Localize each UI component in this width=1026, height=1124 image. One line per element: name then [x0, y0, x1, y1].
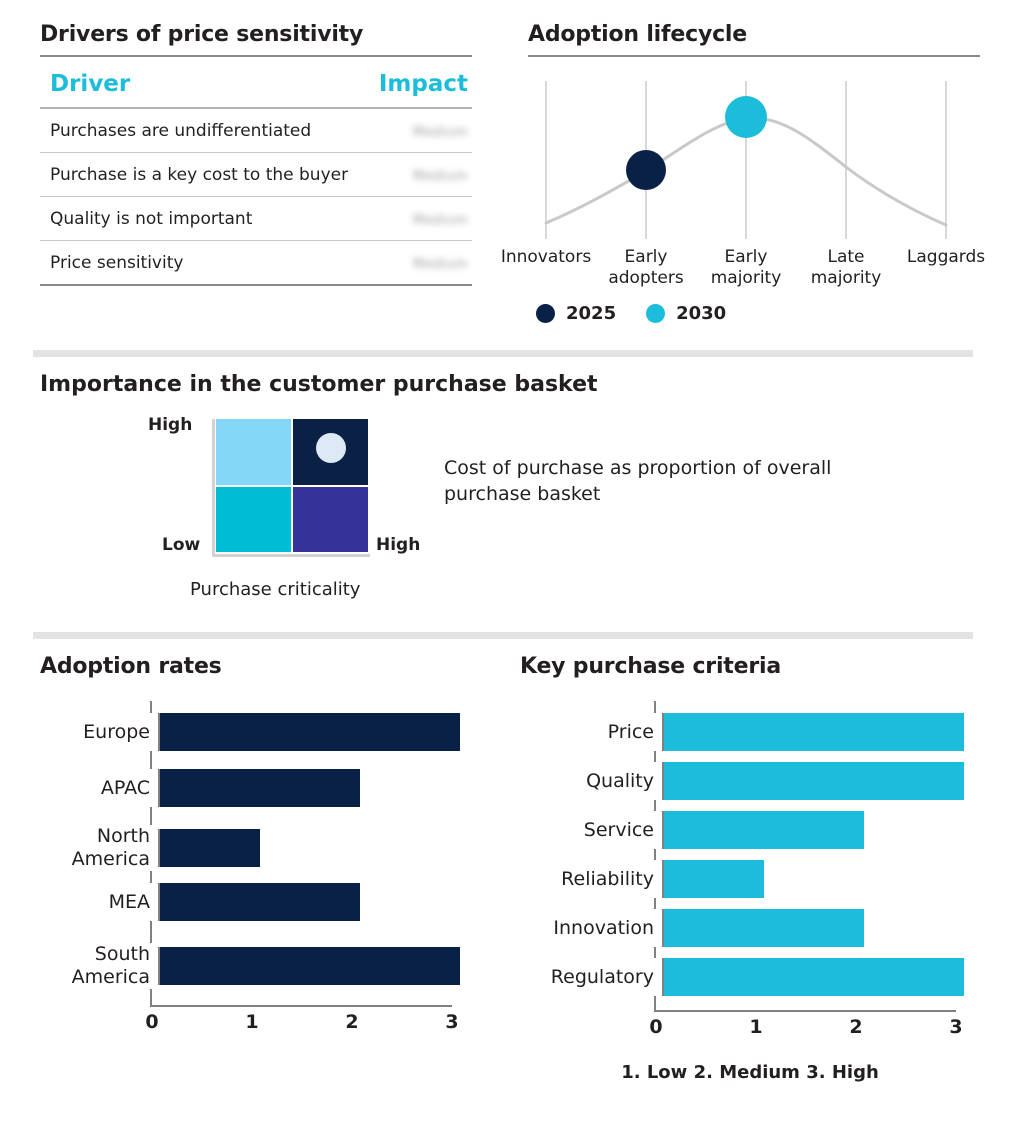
- impact-cell: Medium: [348, 153, 472, 197]
- bar-track: [158, 883, 462, 921]
- bar-category-label: APAC: [40, 777, 158, 800]
- x-tick-2: 2: [345, 1011, 358, 1033]
- matrix-y-label-low: Low: [162, 535, 200, 555]
- bar-gap: [150, 921, 472, 943]
- bar-category-label: Europe: [40, 721, 158, 744]
- bar-row: Innovation: [520, 909, 980, 947]
- matrix-y-axis: [212, 419, 215, 554]
- drivers-table-header-row: Driver Impact: [40, 57, 472, 108]
- bar-track: [158, 829, 462, 867]
- lifecycle-xtick-early-majority: Early majority: [711, 247, 782, 289]
- purchase-basket-body: High Low High Purchase criticality Cost …: [40, 419, 980, 629]
- bar-row: Quality: [520, 762, 980, 800]
- section-divider: [33, 350, 973, 357]
- lifecycle-panel: Adoption lifecycle Innovators: [528, 22, 980, 324]
- x-tick-3: 3: [445, 1011, 458, 1033]
- x-tick-0: 0: [649, 1016, 662, 1038]
- axis-top-spacer: [654, 701, 980, 713]
- adoption-rates-title: Adoption rates: [40, 654, 472, 679]
- bar-row: South America: [40, 943, 472, 989]
- matrix-quadrant-top-left[interactable]: [216, 419, 291, 485]
- bar-track: [158, 947, 462, 985]
- bar-fill[interactable]: [664, 762, 964, 800]
- driver-cell: Purchase is a key cost to the buyer: [40, 153, 348, 197]
- redacted-impact-value: Medium: [413, 257, 468, 272]
- legend-label-2030: 2030: [676, 303, 726, 324]
- x-tick-3: 3: [949, 1016, 962, 1038]
- impact-cell: Medium: [348, 197, 472, 241]
- driver-cell: Price sensitivity: [40, 241, 348, 286]
- matrix-grid: [216, 419, 368, 552]
- bar-track: [662, 860, 966, 898]
- bar-category-label: MEA: [40, 891, 158, 914]
- bar-fill[interactable]: [160, 829, 260, 867]
- lifecycle-marker-2025: [626, 150, 666, 190]
- table-row: Price sensitivity Medium: [40, 241, 472, 286]
- matrix-quadrant-bottom-left[interactable]: [216, 487, 291, 553]
- section-divider: [33, 632, 973, 639]
- bar-track: [662, 958, 966, 996]
- lifecycle-xtick-early-adopters: Early adopters: [608, 247, 683, 289]
- x-tick-1: 1: [749, 1016, 762, 1038]
- bar-fill[interactable]: [664, 909, 864, 947]
- bar-fill[interactable]: [160, 883, 360, 921]
- bar-category-label: Reliability: [520, 868, 662, 891]
- bar-gap: [150, 871, 472, 883]
- redacted-impact-value: Medium: [413, 169, 468, 184]
- redacted-impact-value: Medium: [413, 213, 468, 228]
- x-axis-ticks: 0 1 2 3: [654, 1012, 956, 1040]
- matrix-x-axis-title: Purchase criticality: [190, 579, 360, 600]
- lifecycle-legend: 2025 2030: [536, 303, 980, 324]
- matrix-quadrant-top-right[interactable]: [293, 419, 368, 485]
- lifecycle-marker-2030: [725, 96, 767, 138]
- lifecycle-title-rule: [528, 55, 980, 57]
- purchase-basket-panel: Importance in the customer purchase bask…: [40, 372, 980, 629]
- bar-category-label: Quality: [520, 770, 662, 793]
- lifecycle-svg: [528, 75, 980, 245]
- legend-item-2025: 2025: [536, 303, 616, 324]
- bar-row: Regulatory: [520, 958, 980, 996]
- drivers-title: Drivers of price sensitivity: [40, 22, 472, 47]
- key-purchase-criteria-panel: Key purchase criteria Price Quality Serv…: [520, 654, 980, 1083]
- bar-gap: [150, 751, 472, 769]
- bar-gap: [654, 898, 980, 909]
- axis-bottom-spacer: [654, 996, 980, 1010]
- table-row: Purchase is a key cost to the buyer Medi…: [40, 153, 472, 197]
- x-tick-0: 0: [145, 1011, 158, 1033]
- purchase-basket-note: Cost of purchase as proportion of overal…: [444, 455, 864, 507]
- column-header-impact: Impact: [348, 57, 472, 108]
- bar-row: APAC: [40, 769, 472, 807]
- bar-category-label: North America: [40, 825, 158, 871]
- bar-gap: [654, 800, 980, 811]
- lifecycle-chart: [528, 75, 980, 245]
- impact-cell: Medium: [348, 108, 472, 153]
- criteria-scale-note: 1. Low 2. Medium 3. High: [520, 1062, 980, 1083]
- x-axis-ticks: 0 1 2 3: [150, 1007, 452, 1035]
- lifecycle-xtick-innovators: Innovators: [501, 247, 591, 268]
- bar-fill[interactable]: [160, 713, 460, 751]
- impact-cell: Medium: [348, 241, 472, 286]
- drivers-table: Driver Impact Purchases are undifferenti…: [40, 57, 472, 286]
- bar-gap: [150, 807, 472, 825]
- matrix-quadrant-bottom-right[interactable]: [293, 487, 368, 553]
- matrix-position-marker: [316, 433, 346, 463]
- axis-bottom-spacer: [150, 989, 472, 1005]
- bar-fill[interactable]: [664, 811, 864, 849]
- bar-track: [662, 811, 966, 849]
- bar-track: [158, 769, 462, 807]
- matrix-y-label-high: High: [148, 415, 192, 435]
- driver-cell: Quality is not important: [40, 197, 348, 241]
- bar-gap: [654, 849, 980, 860]
- bar-gap: [654, 947, 980, 958]
- bar-category-label: Service: [520, 819, 662, 842]
- bar-row: North America: [40, 825, 472, 871]
- legend-dot-icon: [646, 304, 665, 323]
- bar-fill[interactable]: [160, 769, 360, 807]
- legend-dot-icon: [536, 304, 555, 323]
- bar-category-label: Innovation: [520, 917, 662, 940]
- bar-track: [158, 713, 462, 751]
- column-header-driver: Driver: [40, 57, 348, 108]
- bar-category-label: Price: [520, 721, 662, 744]
- lifecycle-xtick-late-majority: Late majority: [811, 247, 882, 289]
- x-tick-1: 1: [245, 1011, 258, 1033]
- key-purchase-criteria-title: Key purchase criteria: [520, 654, 980, 679]
- legend-label-2025: 2025: [566, 303, 616, 324]
- bar-fill[interactable]: [160, 947, 460, 985]
- axis-top-spacer: [150, 701, 472, 713]
- bar-gap: [654, 751, 980, 762]
- bar-row: MEA: [40, 883, 472, 921]
- lifecycle-xtick-laggards: Laggards: [907, 247, 985, 268]
- bar-category-label: South America: [40, 943, 158, 989]
- bar-row: Price: [520, 713, 980, 751]
- bar-fill[interactable]: [664, 958, 964, 996]
- adoption-rates-panel: Adoption rates Europe APAC North America: [40, 654, 472, 1035]
- legend-item-2030: 2030: [646, 303, 726, 324]
- x-tick-2: 2: [849, 1016, 862, 1038]
- bar-track: [662, 909, 966, 947]
- lifecycle-x-axis-labels: Innovators Early adopters Early majority…: [528, 247, 980, 299]
- dashboard-page: Drivers of price sensitivity Driver Impa…: [0, 0, 1026, 1124]
- bar-row: Service: [520, 811, 980, 849]
- table-row: Purchases are undifferentiated Medium: [40, 108, 472, 153]
- redacted-impact-value: Medium: [413, 125, 468, 140]
- bar-category-label: Regulatory: [520, 966, 662, 989]
- bar-fill[interactable]: [664, 713, 964, 751]
- drivers-panel: Drivers of price sensitivity Driver Impa…: [40, 22, 472, 286]
- adoption-rates-chart: Europe APAC North America: [40, 701, 472, 1035]
- driver-cell: Purchases are undifferentiated: [40, 108, 348, 153]
- bar-track: [662, 762, 966, 800]
- table-row: Quality is not important Medium: [40, 197, 472, 241]
- lifecycle-title: Adoption lifecycle: [528, 22, 980, 47]
- key-purchase-criteria-chart: Price Quality Service R: [520, 701, 980, 1083]
- bar-fill[interactable]: [664, 860, 764, 898]
- purchase-basket-title: Importance in the customer purchase bask…: [40, 372, 980, 397]
- matrix-x-axis: [212, 554, 370, 557]
- bar-row: Reliability: [520, 860, 980, 898]
- bar-track: [662, 713, 966, 751]
- matrix-x-label-high: High: [376, 535, 420, 555]
- bar-row: Europe: [40, 713, 472, 751]
